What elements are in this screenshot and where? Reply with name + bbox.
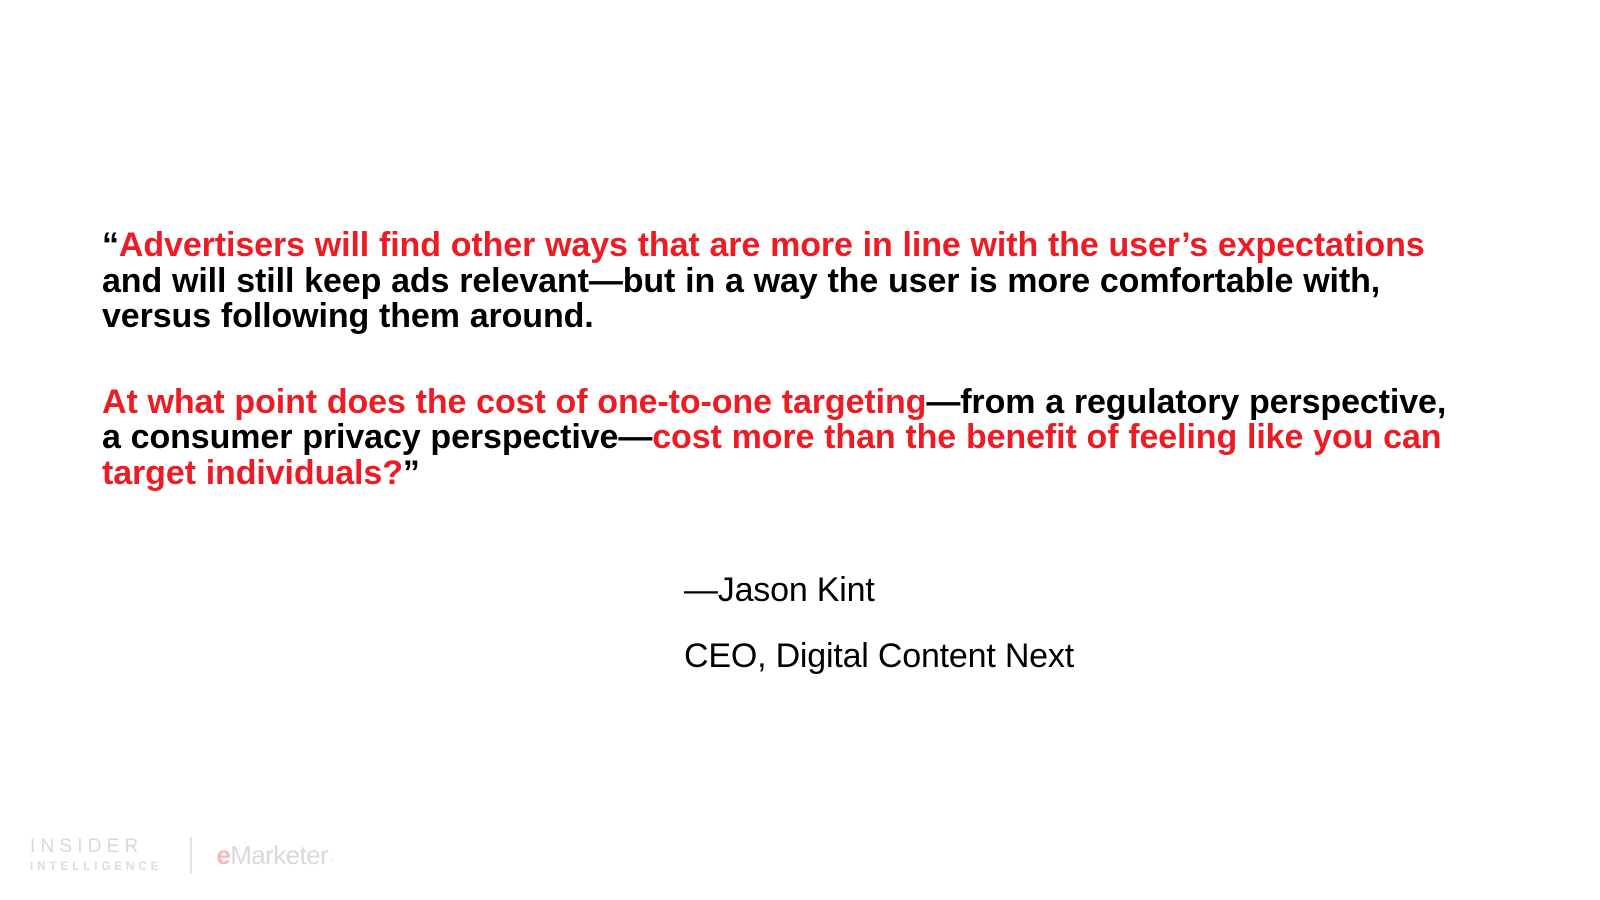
quote-highlight-2: At what point does the cost of one-to-on… — [102, 383, 926, 421]
quote-block: “Advertisers will find other ways that a… — [102, 228, 1462, 491]
slide-canvas: “Advertisers will find other ways that a… — [0, 0, 1600, 900]
logo-divider — [190, 837, 192, 873]
attribution-name: —Jason Kint — [684, 568, 1074, 612]
emarketer-logo: eMarketer· — [216, 840, 333, 871]
quote-plain-1: and will still keep ads relevant—but in … — [102, 262, 1380, 336]
emarketer-trademark-dot: · — [329, 851, 333, 867]
quote-paragraph-1: “Advertisers will find other ways that a… — [102, 228, 1462, 335]
close-quote-mark: ” — [403, 454, 420, 492]
emarketer-logo-word: Marketer — [230, 840, 328, 871]
footer-logo-bar: INSIDER INTELLIGENCE eMarketer· — [30, 832, 333, 878]
attribution-role: CEO, Digital Content Next — [684, 634, 1074, 678]
emarketer-logo-initial: e — [216, 840, 230, 871]
quote-paragraph-2: At what point does the cost of one-to-on… — [102, 385, 1462, 492]
attribution-block: —Jason Kint CEO, Digital Content Next — [684, 568, 1074, 678]
insider-logo-line-2: INTELLIGENCE — [30, 862, 162, 874]
insider-intelligence-logo: INSIDER INTELLIGENCE — [30, 837, 162, 874]
open-quote-mark: “ — [102, 226, 119, 264]
quote-highlight-1: Advertisers will find other ways that ar… — [119, 226, 1425, 264]
insider-logo-line-1: INSIDER — [30, 837, 162, 856]
